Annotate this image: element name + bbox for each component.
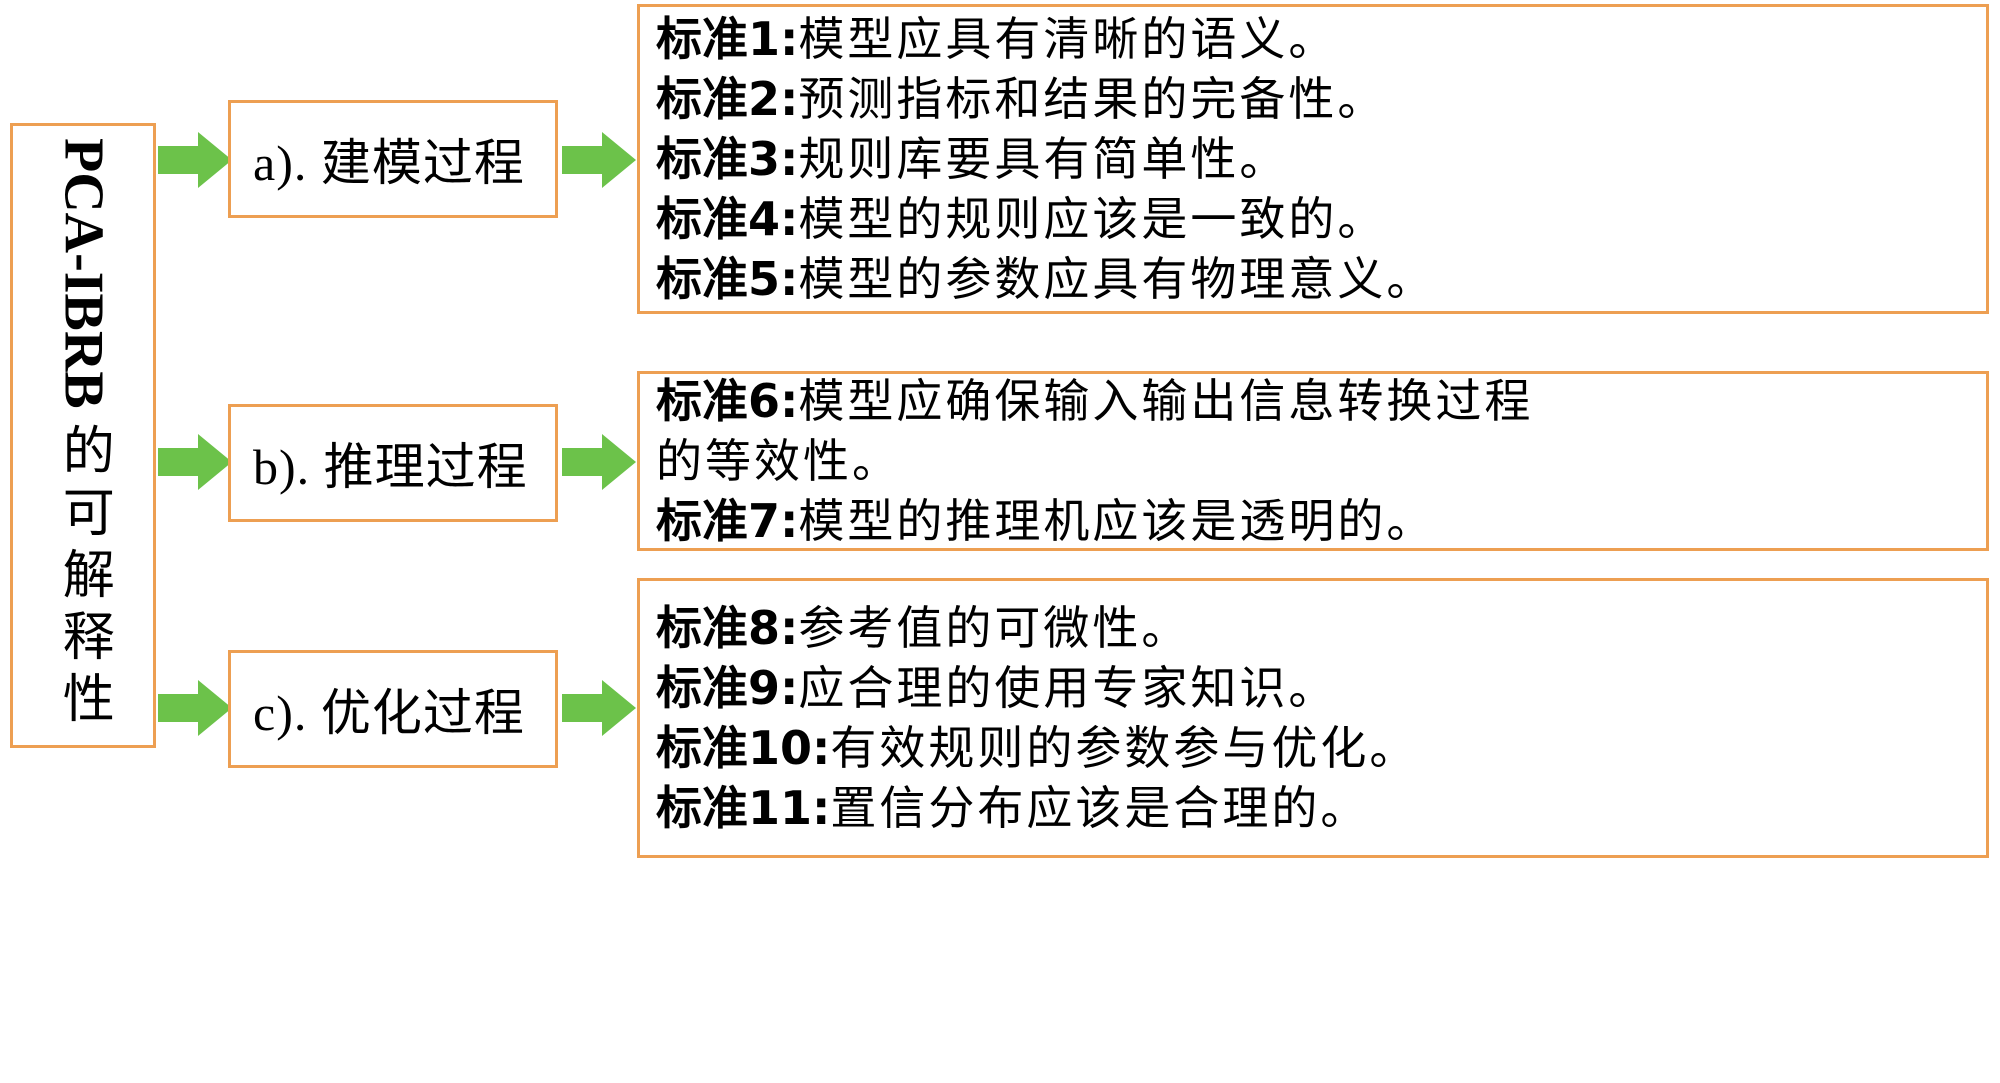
criteria-value: 模型的参数应具有物理意义。 [798,252,1435,306]
diagram-canvas: PCA-IBRB 的可解释性 a). 建模过程 b). 推理过程 c). 优化过… [0,0,2000,1083]
criteria-line: 标准3:规则库要具有简单性。 [656,129,1986,189]
criteria-value: 模型的推理机应该是透明的。 [798,494,1435,548]
criteria-key: 标准11: [656,781,830,835]
criteria-key: 标准9: [656,661,798,715]
criteria-key: 标准3: [656,132,798,186]
criteria-key: 标准4: [656,192,798,246]
criteria-value: 参考值的可微性。 [798,601,1190,655]
stage-box-b: b). 推理过程 [228,404,558,522]
arrow-stage-b-to-panel-2 [562,430,636,494]
criteria-line: 标准2:预测指标和结果的完备性。 [656,69,1986,129]
arrow-root-to-stage-c [158,676,232,740]
criteria-value: 预测指标和结果的完备性。 [798,72,1386,126]
criteria-panel-modeling: 标准1:模型应具有清晰的语义。 标准2:预测指标和结果的完备性。 标准3:规则库… [637,4,1989,314]
arrow-stage-c-to-panel-3 [562,676,636,740]
criteria-value: 规则库要具有简单性。 [798,132,1288,186]
criteria-key: 标准10: [656,721,830,775]
criteria-line: 标准7:模型的推理机应该是透明的。 [656,491,1986,551]
criteria-value: 的等效性。 [656,434,901,488]
criteria-line: 标准10:有效规则的参数参与优化。 [656,718,1986,778]
stage-label-b: b). 推理过程 [253,427,528,499]
criteria-line: 的等效性。 [656,431,1986,491]
criteria-line: 标准9:应合理的使用专家知识。 [656,658,1986,718]
criteria-value: 有效规则的参数参与优化。 [830,721,1418,775]
criteria-key: 标准2: [656,72,798,126]
criteria-key: 标准6: [656,374,798,428]
criteria-line: 标准11:置信分布应该是合理的。 [656,778,1986,838]
criteria-key: 标准7: [656,494,798,548]
criteria-panel-optimization: 标准8:参考值的可微性。 标准9:应合理的使用专家知识。 标准10:有效规则的参… [637,578,1989,858]
criteria-value: 模型应确保输入输出信息转换过程 [798,374,1533,428]
criteria-key: 标准8: [656,601,798,655]
root-node-label-latin: PCA-IBRB [54,138,113,409]
stage-label-a: a). 建模过程 [253,123,525,195]
criteria-line: 标准6:模型应确保输入输出信息转换过程 [656,371,1986,431]
criteria-line: 标准5:模型的参数应具有物理意义。 [656,249,1986,309]
criteria-panel-inference: 标准6:模型应确保输入输出信息转换过程 的等效性。 标准7:模型的推理机应该是透… [637,371,1989,551]
criteria-value: 模型的规则应该是一致的。 [798,192,1386,246]
criteria-line: 标准4:模型的规则应该是一致的。 [656,189,1986,249]
criteria-value: 置信分布应该是合理的。 [830,781,1369,835]
criteria-value: 模型应具有清晰的语义。 [798,12,1337,66]
arrow-root-to-stage-b [158,430,232,494]
criteria-key: 标准5: [656,252,798,306]
arrow-root-to-stage-a [158,128,232,192]
criteria-line: 标准1:模型应具有清晰的语义。 [656,9,1986,69]
stage-box-a: a). 建模过程 [228,100,558,218]
arrow-stage-a-to-panel-1 [562,128,636,192]
criteria-line: 标准8:参考值的可微性。 [656,598,1986,658]
root-node-label: PCA-IBRB 的可解释性 [54,138,113,733]
stage-box-c: c). 优化过程 [228,650,558,768]
root-node-box: PCA-IBRB 的可解释性 [10,123,156,748]
root-node-label-cjk: 的可解释性 [56,423,111,733]
criteria-key: 标准1: [656,12,798,66]
criteria-value: 应合理的使用专家知识。 [798,661,1337,715]
stage-label-c: c). 优化过程 [253,673,525,745]
